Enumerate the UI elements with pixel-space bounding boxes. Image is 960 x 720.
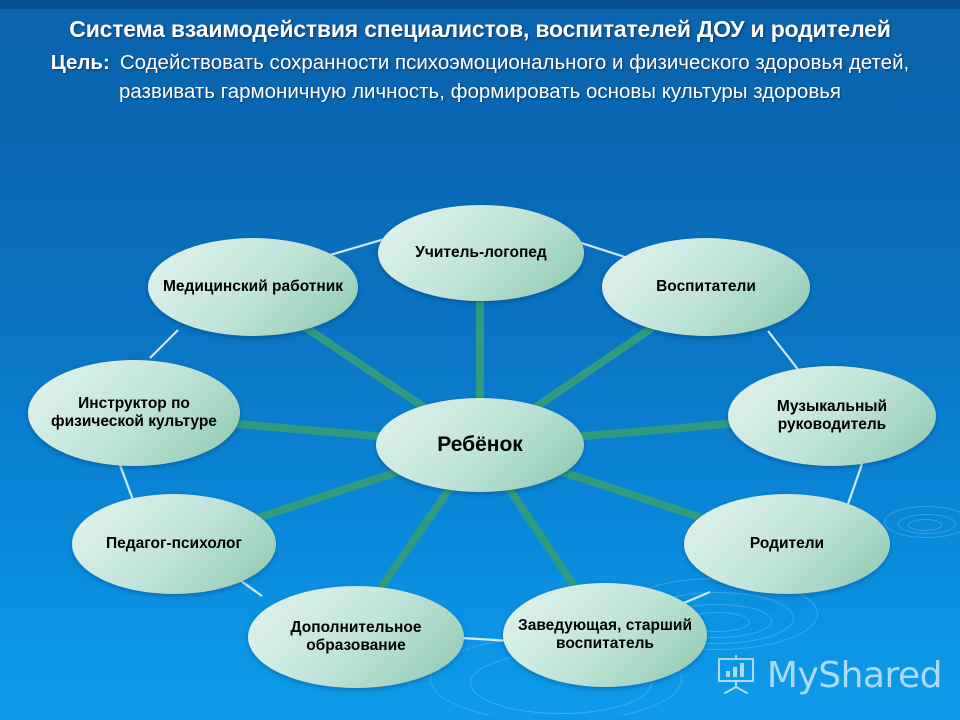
- node-label: Музыкальный руководитель: [728, 398, 936, 435]
- ring-link-instruktor-to-medicinskiy: [150, 330, 178, 358]
- node-uchitel-logoped[interactable]: Учитель-логопед: [378, 205, 584, 301]
- bottom-accent-strip: [0, 715, 960, 720]
- node-dopolnitelnoe-obrazovanie[interactable]: Дополнительное образование: [248, 586, 464, 688]
- ring-link-muzykalnyy-to-roditeli: [848, 464, 862, 504]
- node-pedagog-psiholog[interactable]: Педагог-психолог: [72, 494, 276, 594]
- node-instruktor-po-fizkulture[interactable]: Инструктор по физической культуре: [28, 360, 240, 466]
- node-label: Инструктор по физической культуре: [28, 395, 240, 432]
- node-label: Родители: [740, 535, 834, 553]
- ring-link-pedagog-to-instruktor: [120, 465, 133, 500]
- node-label: Воспитатели: [646, 278, 766, 296]
- node-label: Учитель-логопед: [405, 244, 557, 262]
- node-medicinskiy-rabotnik[interactable]: Медицинский работник: [148, 238, 358, 336]
- node-label: Заведующая, старший воспитатель: [503, 617, 707, 654]
- node-label: Педагог-психолог: [96, 535, 252, 553]
- node-muzykalnyy-rukovoditel[interactable]: Музыкальный руководитель: [728, 366, 936, 466]
- node-roditeli[interactable]: Родители: [684, 494, 890, 594]
- slide-canvas: Система взаимодействия специалистов, вос…: [0, 0, 960, 720]
- node-vospitateli[interactable]: Воспитатели: [602, 238, 810, 336]
- node-label: Дополнительное образование: [248, 619, 464, 656]
- node-center-child[interactable]: Ребёнок: [376, 398, 584, 492]
- node-label: Медицинский работник: [153, 278, 353, 296]
- node-label: Ребёнок: [427, 433, 533, 458]
- node-zaveduyushchaya-starshiy-vospitatel[interactable]: Заведующая, старший воспитатель: [503, 583, 707, 687]
- ring-link-vospitateli-to-muzykalnyy: [768, 331, 800, 372]
